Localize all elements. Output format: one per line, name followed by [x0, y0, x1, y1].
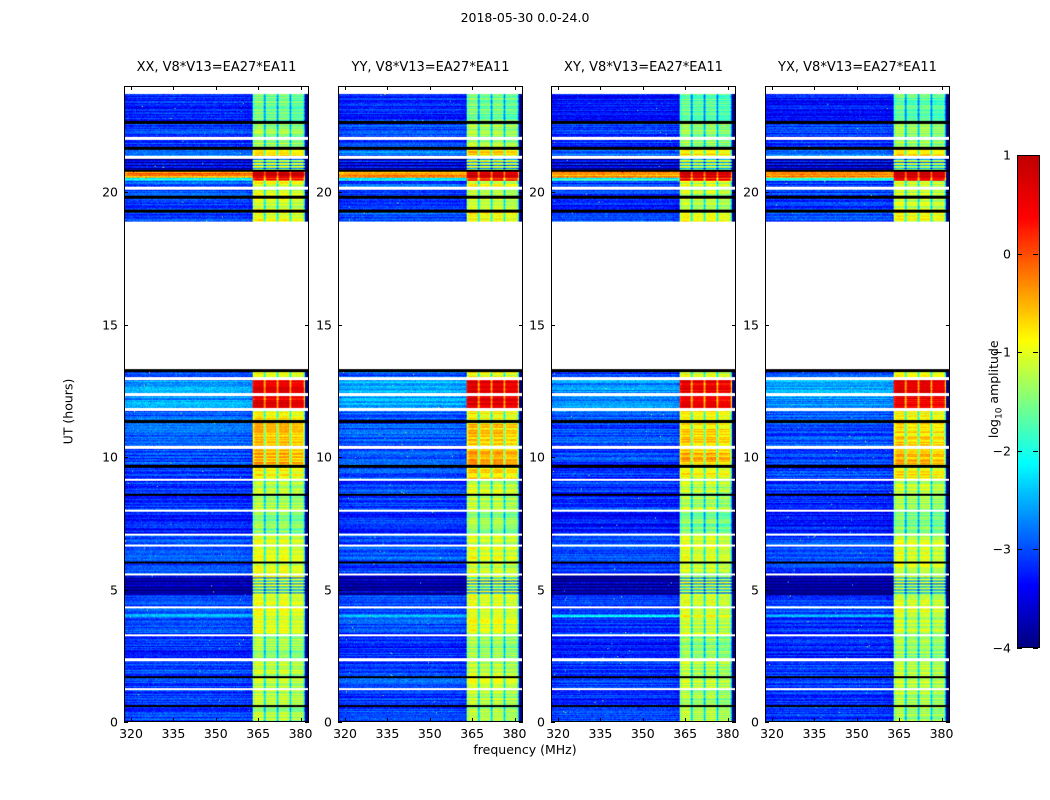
y-tick-mark-xy-2 — [551, 457, 555, 458]
y-tick-label-yx-2: 10 — [719, 450, 759, 465]
y-tick-label-yy-2: 10 — [292, 450, 332, 465]
x-tick-label-yx-0: 320 — [752, 726, 792, 741]
y-tick-label-yy-4: 20 — [292, 185, 332, 200]
colorbar-tick-mark-right-4 — [1033, 549, 1038, 550]
y-tick-mark-xy-4 — [551, 192, 555, 193]
y-tick-mark-xx-3 — [124, 325, 128, 326]
y-tick-label-xx-2: 10 — [78, 450, 118, 465]
y-tick-label-yx-4: 20 — [719, 185, 759, 200]
x-tick-mark-xx-1 — [173, 718, 174, 722]
x-tick-mark-xx-2 — [216, 718, 217, 722]
panel-title-xy: XY, V8*V13=EA27*EA11 — [551, 60, 736, 80]
colorbar-tick-mark-right-5 — [1033, 648, 1038, 649]
y-tick-mark-xy-1 — [551, 590, 555, 591]
colorbar[interactable] — [1017, 155, 1040, 648]
x-tick-mark-top-xx-4 — [301, 86, 302, 90]
panel-title-xx: XX, V8*V13=EA27*EA11 — [124, 60, 309, 80]
colorbar-label-subscript: 10 — [994, 408, 1004, 419]
x-tick-mark-yx-3 — [899, 718, 900, 722]
spectrum-panel-yx[interactable] — [765, 86, 950, 722]
x-tick-mark-top-yx-0 — [772, 86, 773, 90]
colorbar-tick-mark-right-0 — [1033, 155, 1038, 156]
x-tick-mark-top-xy-3 — [685, 86, 686, 90]
colorbar-tick-mark-4 — [1017, 549, 1022, 550]
figure-suptitle: 2018-05-30 0.0-24.0 — [0, 10, 1050, 25]
x-tick-label-xx-0: 320 — [111, 726, 151, 741]
spectrum-image-yx — [766, 87, 949, 721]
colorbar-tick-label-0: 1 — [975, 148, 1011, 163]
x-tick-mark-top-yx-4 — [942, 86, 943, 90]
x-tick-mark-xx-3 — [258, 718, 259, 722]
y-tick-label-yx-3: 15 — [719, 317, 759, 332]
x-tick-label-yy-0: 320 — [325, 726, 365, 741]
colorbar-tick-mark-right-2 — [1033, 352, 1038, 353]
y-tick-mark-yx-0 — [765, 722, 769, 723]
x-tick-label-xx-1: 335 — [153, 726, 193, 741]
x-tick-mark-yx-0 — [772, 718, 773, 722]
colorbar-tick-mark-1 — [1017, 254, 1022, 255]
y-tick-mark-right-yx-3 — [946, 325, 950, 326]
colorbar-tick-label-1: 0 — [975, 246, 1011, 261]
x-tick-mark-top-xy-4 — [728, 86, 729, 90]
colorbar-tick-label-4: −3 — [975, 542, 1011, 557]
x-tick-mark-top-xy-2 — [643, 86, 644, 90]
x-tick-label-xy-3: 365 — [665, 726, 705, 741]
figure-canvas: 2018-05-30 0.0-24.0 XX, V8*V13=EA27*EA11… — [0, 0, 1050, 800]
x-tick-mark-yy-0 — [345, 718, 346, 722]
spectrum-panel-xy[interactable] — [551, 86, 736, 722]
x-tick-mark-xy-0 — [558, 718, 559, 722]
y-tick-mark-yy-4 — [338, 192, 342, 193]
spectrum-image-yy — [339, 87, 522, 721]
y-tick-mark-right-yx-2 — [946, 457, 950, 458]
y-tick-mark-yx-4 — [765, 192, 769, 193]
x-tick-label-yy-1: 335 — [367, 726, 407, 741]
x-tick-mark-top-yy-3 — [472, 86, 473, 90]
x-tick-mark-top-xx-0 — [131, 86, 132, 90]
colorbar-label-prefix: log — [986, 419, 1001, 438]
x-tick-label-yx-1: 335 — [794, 726, 834, 741]
x-tick-mark-top-xy-0 — [558, 86, 559, 90]
x-tick-label-xy-1: 335 — [580, 726, 620, 741]
y-tick-label-yy-3: 15 — [292, 317, 332, 332]
x-tick-label-yy-3: 365 — [452, 726, 492, 741]
colorbar-tick-mark-right-3 — [1033, 451, 1038, 452]
x-tick-mark-yx-1 — [814, 718, 815, 722]
y-axis-label: UT (hours) — [61, 332, 76, 492]
spectrum-image-xy — [552, 87, 735, 721]
x-tick-label-xx-3: 365 — [238, 726, 278, 741]
x-tick-mark-yx-2 — [857, 718, 858, 722]
x-tick-mark-top-yy-0 — [345, 86, 346, 90]
y-tick-mark-right-yx-1 — [946, 590, 950, 591]
y-tick-label-xy-3: 15 — [505, 317, 545, 332]
x-tick-mark-top-xx-2 — [216, 86, 217, 90]
x-tick-mark-yy-1 — [387, 718, 388, 722]
x-tick-label-xx-2: 350 — [196, 726, 236, 741]
y-tick-label-yx-1: 5 — [719, 582, 759, 597]
x-tick-mark-xy-3 — [685, 718, 686, 722]
y-tick-label-xx-1: 5 — [78, 582, 118, 597]
x-tick-mark-top-yx-1 — [814, 86, 815, 90]
x-tick-mark-xy-1 — [600, 718, 601, 722]
x-tick-label-yy-2: 350 — [410, 726, 450, 741]
y-tick-label-yy-1: 5 — [292, 582, 332, 597]
x-tick-mark-top-yy-2 — [430, 86, 431, 90]
colorbar-label-suffix: amplitude — [986, 340, 1001, 407]
y-tick-mark-yx-2 — [765, 457, 769, 458]
y-tick-label-xx-3: 15 — [78, 317, 118, 332]
y-tick-mark-xy-0 — [551, 722, 555, 723]
x-tick-mark-top-yx-2 — [857, 86, 858, 90]
colorbar-tick-mark-right-1 — [1033, 254, 1038, 255]
y-tick-mark-yy-3 — [338, 325, 342, 326]
y-tick-mark-xx-4 — [124, 192, 128, 193]
x-tick-mark-xy-2 — [643, 718, 644, 722]
panel-title-yy: YY, V8*V13=EA27*EA11 — [338, 60, 523, 80]
x-tick-mark-top-xx-1 — [173, 86, 174, 90]
x-tick-label-yx-4: 380 — [922, 726, 962, 741]
x-tick-mark-yy-3 — [472, 718, 473, 722]
y-tick-mark-right-yx-0 — [946, 722, 950, 723]
y-tick-mark-xy-3 — [551, 325, 555, 326]
colorbar-tick-mark-3 — [1017, 451, 1022, 452]
x-tick-label-xy-2: 350 — [623, 726, 663, 741]
y-tick-mark-xx-1 — [124, 590, 128, 591]
x-axis-label: frequency (MHz) — [0, 742, 1050, 757]
y-tick-mark-right-yx-4 — [946, 192, 950, 193]
x-tick-label-yx-3: 365 — [879, 726, 919, 741]
panel-title-yx: YX, V8*V13=EA27*EA11 — [765, 60, 950, 80]
y-tick-mark-yy-1 — [338, 590, 342, 591]
x-tick-label-xy-0: 320 — [538, 726, 578, 741]
y-tick-label-xy-2: 10 — [505, 450, 545, 465]
y-tick-mark-yy-0 — [338, 722, 342, 723]
colorbar-tick-mark-5 — [1017, 648, 1022, 649]
x-tick-mark-top-yy-4 — [515, 86, 516, 90]
colorbar-tick-label-5: −4 — [975, 641, 1011, 656]
spectrum-panel-yy[interactable] — [338, 86, 523, 722]
x-tick-mark-top-xy-1 — [600, 86, 601, 90]
y-tick-mark-xx-0 — [124, 722, 128, 723]
y-tick-mark-yx-3 — [765, 325, 769, 326]
y-tick-label-xy-4: 20 — [505, 185, 545, 200]
x-tick-label-yx-2: 350 — [837, 726, 877, 741]
colorbar-gradient — [1018, 156, 1039, 647]
y-tick-label-xy-1: 5 — [505, 582, 545, 597]
spectrum-panel-xx[interactable] — [124, 86, 309, 722]
x-tick-mark-top-yy-1 — [387, 86, 388, 90]
colorbar-tick-mark-0 — [1017, 155, 1022, 156]
x-tick-mark-yy-2 — [430, 718, 431, 722]
x-tick-mark-top-yx-3 — [899, 86, 900, 90]
y-tick-mark-yy-2 — [338, 457, 342, 458]
y-tick-mark-xx-2 — [124, 457, 128, 458]
y-tick-mark-yx-1 — [765, 590, 769, 591]
spectrum-image-xx — [125, 87, 308, 721]
colorbar-label: log10 amplitude — [986, 299, 1005, 479]
y-tick-label-xx-4: 20 — [78, 185, 118, 200]
x-tick-mark-yx-4 — [942, 718, 943, 722]
x-tick-mark-xx-0 — [131, 718, 132, 722]
colorbar-tick-mark-2 — [1017, 352, 1022, 353]
x-tick-mark-top-xx-3 — [258, 86, 259, 90]
